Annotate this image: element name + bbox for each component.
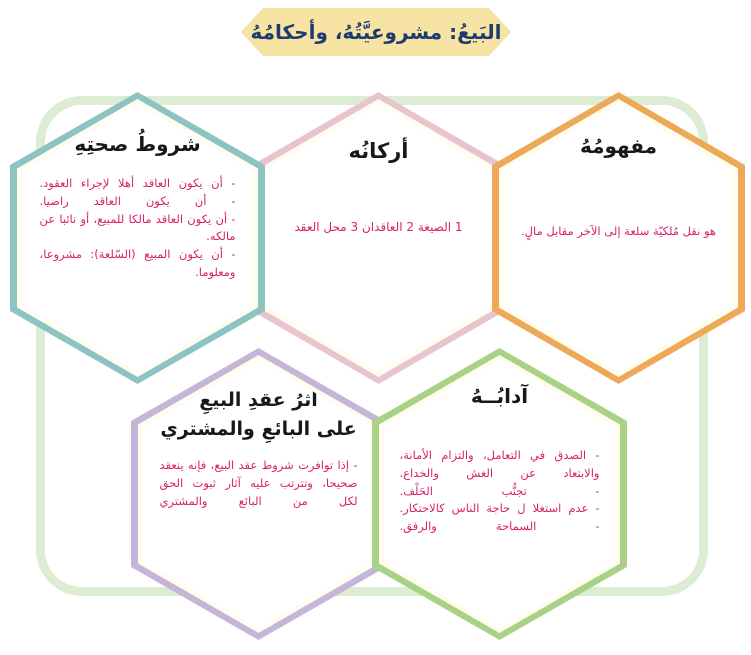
page-title: البَيعُ: مشروعيَّتُهُ، وأحكامُهُ <box>251 22 502 42</box>
list-item: - تجنُّب الحَلْف. <box>400 483 600 501</box>
list-item: - الصدق في التعامل، والتزام الأمانة، <box>400 447 600 465</box>
list-item: لكل من البائع والمشتري <box>160 493 358 511</box>
list-item: ومعلوما. <box>40 264 236 282</box>
hexagon-content: أثرُ عقدِ البيعِ على البائعِ والمشتري - … <box>143 360 374 628</box>
title-banner: البَيعُ: مشروعيَّتُهُ، وأحكامُهُ <box>241 8 511 56</box>
list-item: صحيحا، وتترتب عليه آثار ثبوت الحق <box>160 475 358 493</box>
list-item: 1 الصيغة 2 العاقدان 3 محل العقد <box>274 218 484 237</box>
hexagon-title-concept: مفهومُهُ <box>580 134 657 159</box>
hexagon-content: آدابُــهُ - الصدق في التعامل، والتزام ال… <box>384 360 615 628</box>
hexagon-content: شروطُ صحتِهِ - أن يكون العاقد أهلا لإجرا… <box>22 104 253 372</box>
list-item: - أن يكون العاقد راضيا. <box>40 193 236 211</box>
hexagon-body-pillars: 1 الصيغة 2 العاقدان 3 محل العقد <box>274 218 484 237</box>
hexagon-body-effect: - إذا توافرت شروط عقد البيع، فإنه ينعقد … <box>160 457 358 510</box>
list-item: - أن يكون العاقد مالكا للمبيع، أو نائبا … <box>40 211 236 229</box>
list-item: - عدم استغلا ل حاجة الناس كالاحتكار. <box>400 500 600 518</box>
hexagon-content: مفهومُهُ هو نقل مُلكيّة سلعة إلى الآخر م… <box>504 104 733 372</box>
infographic-canvas: البَيعُ: مشروعيَّتُهُ، وأحكامُهُ شروطُ ص… <box>0 0 751 655</box>
hexagon-body-etiquette: - الصدق في التعامل، والتزام الأمانة، وال… <box>400 447 600 536</box>
hexagon-title-etiquette: آدابُــهُ <box>471 384 528 409</box>
list-item: - إذا توافرت شروط عقد البيع، فإنه ينعقد <box>160 457 358 475</box>
list-item: مالكه. <box>40 228 236 246</box>
hexagon-title-conditions: شروطُ صحتِهِ <box>74 132 200 157</box>
hexagon-title-effect: أثرُ عقدِ البيعِ على البائعِ والمشتري <box>160 386 356 443</box>
list-item: - أن يكون العاقد أهلا لإجراء العقود. <box>40 175 236 193</box>
list-item: والابتعاد عن الغش والخداع. <box>400 465 600 483</box>
definition-text: هو نقل مُلكيّة سلعة إلى الآخر مقابل مالٍ… <box>516 223 722 241</box>
hexagon-title-pillars: أركانُه <box>349 138 409 164</box>
list-item: - السماحة والرفق. <box>400 518 600 536</box>
hexagon-content: أركانُه 1 الصيغة 2 العاقدان 3 محل العقد <box>264 104 493 372</box>
hexagon-body-conditions: - أن يكون العاقد أهلا لإجراء العقود. - أ… <box>40 175 236 282</box>
list-item: - أن يكون المبيع (السّلعة): مشروعا، <box>40 246 236 264</box>
hexagon-body-concept: هو نقل مُلكيّة سلعة إلى الآخر مقابل مالٍ… <box>516 223 722 241</box>
